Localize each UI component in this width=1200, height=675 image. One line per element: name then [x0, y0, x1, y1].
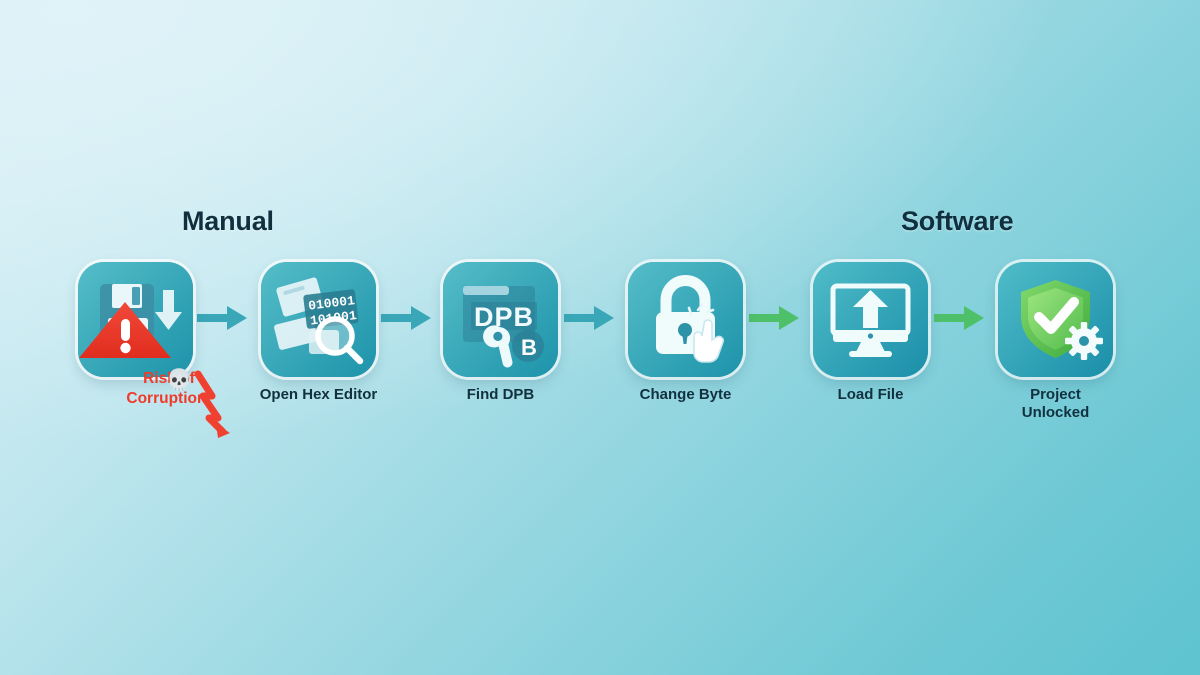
step-load-file[interactable]: Load File: [813, 262, 928, 377]
step-project-unlocked[interactable]: Project Unlocked: [998, 262, 1113, 377]
shield-check-gear-icon: [998, 262, 1113, 377]
tile-save-file[interactable]: [78, 262, 193, 377]
hex-editor-magnifier-icon: 010001 101001: [261, 262, 376, 377]
diagram-canvas: Manual Software: [0, 0, 1200, 675]
dpb-wrench-icon: DPB B: [443, 262, 558, 377]
step-save-file[interactable]: [78, 262, 193, 377]
tile-open-hex-editor[interactable]: 010001 101001: [261, 262, 376, 377]
step-label-project-unlocked: Project Unlocked: [970, 386, 1141, 421]
step-label-load-file: Load File: [785, 386, 956, 404]
tile-project-unlocked[interactable]: [998, 262, 1113, 377]
skull-icon: 💀: [166, 370, 192, 391]
step-label-change-byte: Change Byte: [600, 386, 771, 404]
flow-arrow-2: [381, 303, 431, 333]
step-open-hex-editor[interactable]: 010001 101001 Open Hex Editor: [261, 262, 376, 377]
flow-arrow-1: [197, 303, 247, 333]
section-title-software: Software: [901, 206, 1013, 237]
flow-arrow-3: [564, 303, 614, 333]
tile-find-dpb[interactable]: DPB B: [443, 262, 558, 377]
tile-load-file[interactable]: [813, 262, 928, 377]
monitor-upload-icon: [813, 262, 928, 377]
floppy-disk-warning-icon: [78, 262, 193, 377]
step-change-byte[interactable]: Change Byte: [628, 262, 743, 377]
svg-text:B: B: [521, 335, 537, 360]
step-find-dpb[interactable]: DPB B Find DPB: [443, 262, 558, 377]
lock-pointer-icon: [628, 262, 743, 377]
zigzag-danger-arrow-icon: [192, 366, 250, 443]
flow-arrow-5: [934, 303, 984, 333]
tile-change-byte[interactable]: [628, 262, 743, 377]
step-label-find-dpb: Find DPB: [415, 386, 586, 404]
step-label-open-hex-editor: Open Hex Editor: [233, 386, 404, 404]
svg-text:DPB: DPB: [474, 302, 534, 332]
flow-arrow-4: [749, 303, 799, 333]
section-title-manual: Manual: [182, 206, 274, 237]
